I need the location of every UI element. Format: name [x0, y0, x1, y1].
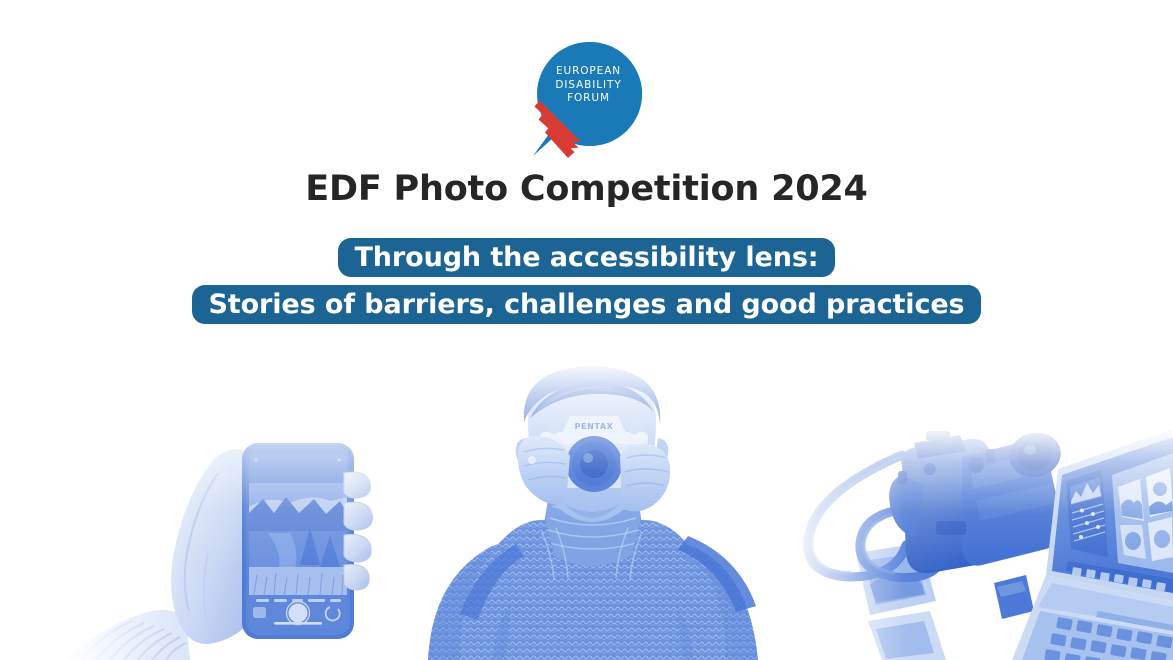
photo-dslr-camera-and-laptop: [790, 425, 1173, 660]
photo-hand-holding-smartphone: [58, 415, 408, 660]
logo-line-disability: DISABILITY: [546, 79, 632, 93]
photo-dslr-camera-and-laptop-art: [790, 425, 1173, 660]
european-disability-forum-logo: EUROPEAN DISABILITY FORUM: [528, 38, 646, 158]
photo-photographer-with-camera: PENTAX: [420, 360, 765, 660]
photo-photographer-with-camera-art: PENTAX: [420, 360, 765, 660]
page-title: EDF Photo Competition 2024: [0, 167, 1173, 211]
svg-text:PENTAX: PENTAX: [575, 422, 614, 431]
logo-wordmark: EUROPEAN DISABILITY FORUM: [546, 65, 632, 106]
subtitle-banner: Through the accessibility lens:Stories o…: [0, 236, 1173, 330]
photo-hand-holding-smartphone-art: [58, 415, 408, 660]
poster-canvas: EUROPEAN DISABILITY FORUM EDF Photo Comp…: [0, 0, 1173, 660]
subtitle-line-1: Through the accessibility lens:: [354, 242, 818, 273]
photo-strip: PENTAX: [0, 345, 1173, 660]
logo-line-forum: FORUM: [546, 92, 632, 106]
logo-line-european: EUROPEAN: [546, 65, 632, 79]
logo-container: EUROPEAN DISABILITY FORUM: [0, 38, 1173, 158]
subtitle-line-2: Stories of barriers, challenges and good…: [208, 289, 964, 320]
subtitle-highlight: Through the accessibility lens:Stories o…: [192, 238, 980, 324]
